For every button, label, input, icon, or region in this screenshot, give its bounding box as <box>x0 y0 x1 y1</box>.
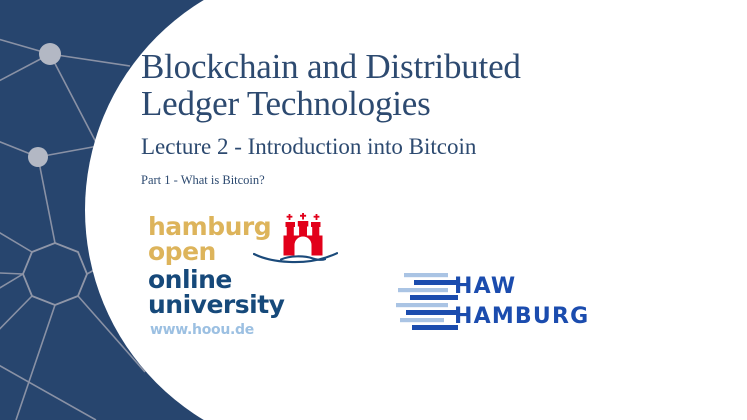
lecture-subtitle: Lecture 2 - Introduction into Bitcoin <box>141 134 701 160</box>
hoou-word-online: online <box>148 267 232 292</box>
hoou-url-label: www.hoou.de <box>150 322 254 338</box>
part-label: Part 1 - What is Bitcoin? <box>141 173 701 188</box>
haw-line-2: HAMBURG <box>454 302 589 332</box>
hoou-word-open: open <box>148 239 216 264</box>
hoou-word-university: university <box>148 292 284 317</box>
haw-line-1: HAW <box>454 272 589 302</box>
haw-bars-icon <box>396 272 460 335</box>
haw-wordmark: HAW HAMBURG <box>454 272 589 332</box>
haw-hamburg-logo: HAW HAMBURG <box>396 272 596 334</box>
slide-root: Blockchain and Distributed Ledger Techno… <box>0 0 747 420</box>
title-text-block: Blockchain and Distributed Ledger Techno… <box>141 48 701 188</box>
hoou-word-hamburg: hamburg <box>148 214 271 239</box>
page-title: Blockchain and Distributed Ledger Techno… <box>141 48 701 122</box>
hoou-logo: hamburg open online university www.hoou.… <box>148 214 338 344</box>
hoou-wave-icon <box>253 250 338 271</box>
